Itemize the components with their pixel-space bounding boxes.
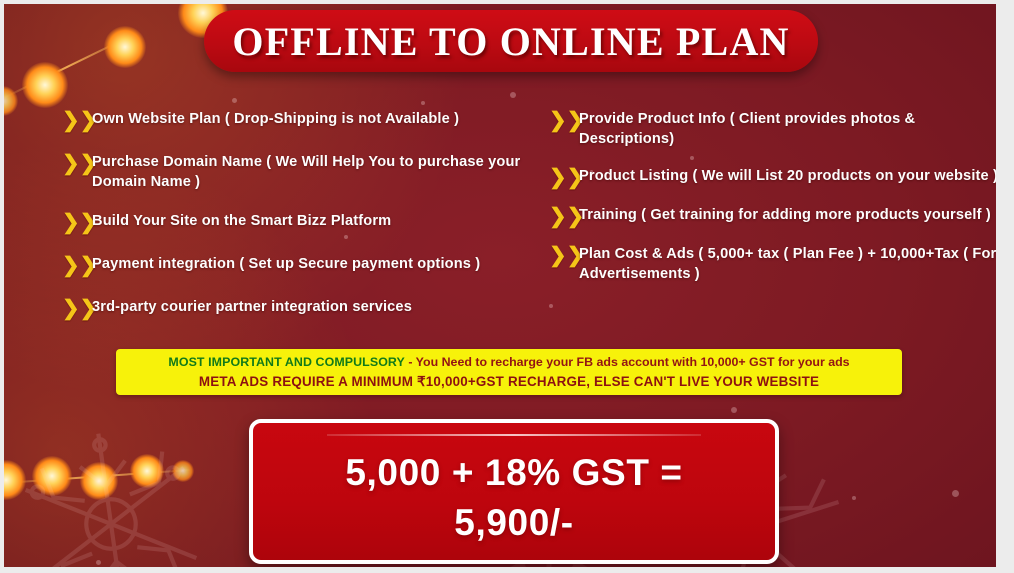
string-lights-top-left-icon (4, 4, 218, 114)
feature-bullet-label: Provide Product Info ( Client provides p… (579, 110, 996, 149)
page-title-banner: OFFLINE TO ONLINE PLAN (204, 10, 818, 72)
notice-rest: - You Need to recharge your FB ads accou… (405, 355, 850, 369)
feature-bullet: ❯❯Provide Product Info ( Client provides… (549, 110, 996, 149)
price-amount: 5,000 + 18% GST = 5,900/- (299, 448, 729, 548)
feature-bullet: ❯❯Product Listing ( We will List 20 prod… (549, 167, 996, 188)
notice-emphasis: MOST IMPORTANT AND COMPULSORY (168, 355, 404, 369)
speck (731, 407, 737, 413)
feature-bullet: ❯❯Training ( Get training for adding mor… (549, 206, 996, 227)
feature-bullet-label: Purchase Domain Name ( We Will Help You … (92, 153, 544, 192)
notice-line-1: MOST IMPORTANT AND COMPULSORY - You Need… (168, 355, 849, 370)
double-chevron-icon: ❯❯ (549, 246, 573, 266)
feature-bullet: ❯❯Plan Cost & Ads ( 5,000+ tax ( Plan Fe… (549, 245, 996, 284)
speck (952, 490, 959, 497)
feature-column-right: ❯❯Provide Product Info ( Client provides… (549, 110, 996, 302)
feature-bullet-label: Payment integration ( Set up Secure paym… (92, 255, 544, 275)
feature-bullet: ❯❯Own Website Plan ( Drop-Shipping is no… (62, 110, 544, 131)
feature-bullet-label: Build Your Site on the Smart Bizz Platfo… (92, 212, 544, 232)
double-chevron-icon: ❯❯ (62, 299, 86, 319)
feature-bullet-label: 3rd-party courier partner integration se… (92, 298, 544, 318)
feature-bullet-label: Product Listing ( We will List 20 produc… (579, 167, 996, 187)
feature-bullet: ❯❯Build Your Site on the Smart Bizz Plat… (62, 212, 544, 233)
speck (421, 101, 425, 105)
feature-bullet-label: Plan Cost & Ads ( 5,000+ tax ( Plan Fee … (579, 245, 996, 284)
double-chevron-icon: ❯❯ (549, 168, 573, 188)
slide-canvas: OFFLINE TO ONLINE PLAN ❯❯Own Website Pla… (4, 4, 996, 567)
string-lights-bottom-left-icon (4, 436, 234, 526)
speck (549, 304, 553, 308)
feature-bullet: ❯❯Payment integration ( Set up Secure pa… (62, 255, 544, 276)
feature-column-left: ❯❯Own Website Plan ( Drop-Shipping is no… (62, 110, 544, 341)
feature-bullet-label: Own Website Plan ( Drop-Shipping is not … (92, 110, 544, 130)
price-divider (327, 434, 701, 436)
feature-bullet: ❯❯Purchase Domain Name ( We Will Help Yo… (62, 153, 544, 192)
feature-bullet-label: Training ( Get training for adding more … (579, 206, 996, 226)
speck (852, 496, 856, 500)
page-title: OFFLINE TO ONLINE PLAN (232, 18, 789, 65)
double-chevron-icon: ❯❯ (62, 213, 86, 233)
price-line-2: 5,900/- (454, 502, 573, 543)
price-line-1: 5,000 + 18% GST = (345, 452, 682, 493)
slide-frame: OFFLINE TO ONLINE PLAN ❯❯Own Website Pla… (0, 0, 1014, 573)
speck (232, 98, 237, 103)
important-notice-banner: MOST IMPORTANT AND COMPULSORY - You Need… (116, 349, 902, 395)
double-chevron-icon: ❯❯ (62, 256, 86, 276)
speck (510, 92, 516, 98)
notice-line-2: META ADS REQUIRE A MINIMUM ₹10,000+GST R… (199, 373, 819, 390)
double-chevron-icon: ❯❯ (62, 111, 86, 131)
price-box: 5,000 + 18% GST = 5,900/- (249, 419, 779, 564)
snowflake-watermark-left-icon (4, 417, 218, 567)
double-chevron-icon: ❯❯ (62, 154, 86, 174)
double-chevron-icon: ❯❯ (549, 111, 573, 131)
feature-bullet: ❯❯3rd-party courier partner integration … (62, 298, 544, 319)
double-chevron-icon: ❯❯ (549, 207, 573, 227)
speck (96, 560, 101, 565)
